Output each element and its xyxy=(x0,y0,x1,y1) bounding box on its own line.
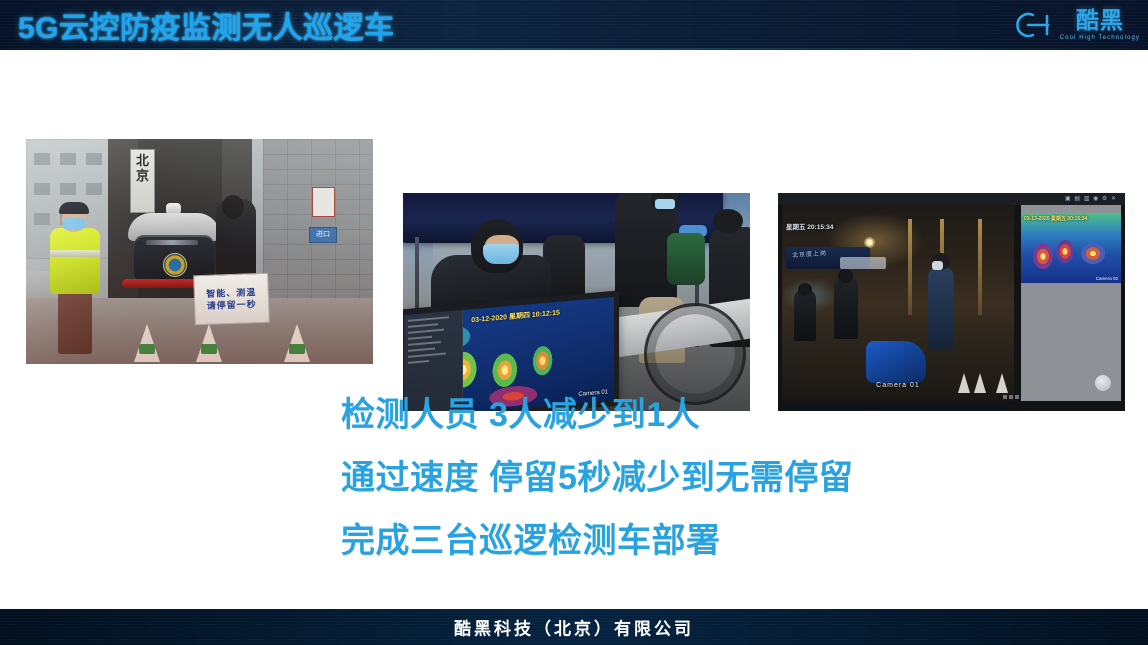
window xyxy=(34,183,50,195)
wall-notice-sign xyxy=(312,187,335,217)
result-line-1: 检测人员 3人减少到1人 xyxy=(341,398,1041,432)
photo-1-scene: 北京 进口 xyxy=(26,139,373,364)
placard-line-2: 请停留一秒 xyxy=(207,300,257,311)
civilian-right-head xyxy=(713,209,743,233)
photo-patrol-robot-at-gate: 北京 进口 xyxy=(26,139,373,364)
thermal-preview-view: 03-13-2020 星期五 20:15:34 Camera 02 xyxy=(1021,213,1121,283)
main-osd-timestamp: 星期五 20:15:34 xyxy=(786,221,833,231)
officer-face-mask xyxy=(655,199,675,209)
electric-scooter xyxy=(866,341,926,383)
pedestrian-head xyxy=(222,195,244,219)
staff-head xyxy=(798,283,812,296)
key-results-list: 检测人员 3人减少到1人 通过速度 停留5秒减少到无需停留 完成三台巡逻检测车部… xyxy=(341,398,1041,558)
photo-3-scene: ▣ ▤ ▥ ◉ ⚙ ✕ 北京度上岗 xyxy=(778,193,1125,411)
main-camera-view: 北京度上岗 星期五 20:15:34 Camera 01 xyxy=(782,205,1014,401)
tree xyxy=(908,219,912,315)
officer-face-mask xyxy=(483,244,519,264)
gate-vertical-sign: 北京 xyxy=(130,149,155,213)
entry-label-sign: 进口 xyxy=(309,227,337,243)
laptop-screen: 03-12-2020 星期四 10:12:15 Camera 01 xyxy=(404,297,614,411)
traffic-cone xyxy=(996,373,1008,393)
police-officer xyxy=(48,204,104,354)
traffic-cone xyxy=(958,373,970,393)
bicycle-wheel xyxy=(644,303,746,405)
result-line-2: 通过速度 停留5秒减少到无需停留 xyxy=(341,461,1041,495)
photo-row: 北京 进口 xyxy=(0,50,1148,380)
monitor-power-knob xyxy=(1095,375,1111,391)
officer-legs xyxy=(58,292,92,354)
logo-wordmark: 酷黑 Cool High Technology xyxy=(1060,9,1140,41)
civilian-green-jacket xyxy=(667,233,705,285)
page-title: 5G云控防疫监测无人巡逻车 xyxy=(18,3,395,47)
robot-police-emblem-icon xyxy=(163,253,187,277)
photo-checkpoint-thermal-laptop: 03-12-2020 星期四 10:12:15 Camera 01 xyxy=(403,193,750,411)
window xyxy=(60,153,76,165)
person-standing xyxy=(834,277,858,339)
monitor-toolbar: ▣ ▤ ▥ ◉ ⚙ ✕ xyxy=(778,193,1125,205)
result-line-3: 完成三台巡逻检测车部署 xyxy=(341,524,1041,558)
logo-brand-cn: 酷黑 xyxy=(1076,9,1124,32)
officer-hi-vis-vest xyxy=(50,228,100,294)
company-logo: 酷黑 Cool High Technology xyxy=(1014,3,1140,47)
person-head xyxy=(838,269,853,283)
traffic-cone xyxy=(974,373,986,393)
thermal-preview-camera-label: Camera 02 xyxy=(1096,276,1118,281)
ch-monogram-icon xyxy=(1014,10,1054,40)
slide-footer: 酷黑科技（北京）有限公司 xyxy=(0,609,1148,645)
walker-in-blue xyxy=(928,267,954,349)
window xyxy=(86,153,102,165)
traffic-cone xyxy=(134,324,160,362)
window xyxy=(34,153,50,165)
side-panel: 03-13-2020 星期五 20:15:34 Camera 02 xyxy=(1021,205,1121,401)
photo-night-monitoring-screen: ▣ ▤ ▥ ◉ ⚙ ✕ 北京度上岗 xyxy=(778,193,1125,411)
walker-face-mask xyxy=(932,261,943,270)
officer-face-mask xyxy=(63,218,85,230)
thermal-laptop: 03-12-2020 星期四 10:12:15 Camera 01 xyxy=(403,290,619,411)
officer-cap xyxy=(59,202,89,214)
vest-reflective-band xyxy=(50,250,100,257)
staff-at-table xyxy=(794,289,816,341)
robot-sensor-strip xyxy=(146,240,198,245)
main-camera-label: Camera 01 xyxy=(876,382,920,389)
white-banner xyxy=(840,257,886,269)
slide-header: 5G云控防疫监测无人巡逻车 酷黑 Cool High Technology xyxy=(0,0,1148,50)
window xyxy=(86,183,102,195)
laptop-lid: 03-12-2020 星期四 10:12:15 Camera 01 xyxy=(403,290,619,411)
tree xyxy=(978,219,982,315)
monitor-toolbar-text: ▣ ▤ ▥ ◉ ⚙ ✕ xyxy=(1065,195,1117,202)
traffic-cone xyxy=(284,324,310,362)
window xyxy=(60,183,76,195)
thermal-preview-timestamp: 03-13-2020 星期五 20:15:34 xyxy=(1024,215,1087,222)
instruction-placard: 智能、测温 请停留一秒 xyxy=(193,273,270,326)
logo-brand-en: Cool High Technology xyxy=(1060,35,1140,41)
company-name: 酷黑科技（北京）有限公司 xyxy=(454,615,694,640)
photo-2-scene: 03-12-2020 星期四 10:12:15 Camera 01 xyxy=(403,193,750,411)
placard-line-1: 智能、测温 xyxy=(206,288,256,299)
traffic-cone xyxy=(196,324,222,362)
